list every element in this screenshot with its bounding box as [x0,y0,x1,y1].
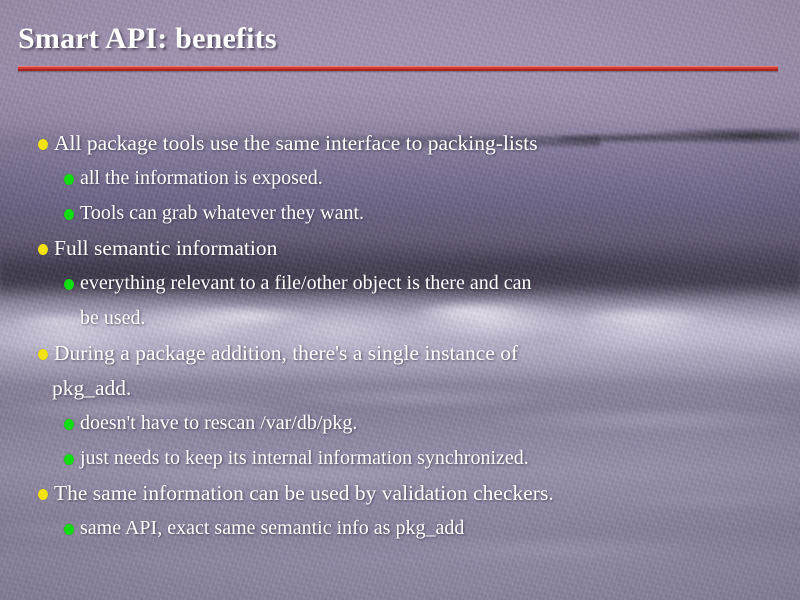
bullet-item-level2: same API, exact same semantic info as pk… [0,511,800,546]
bullet-dot-green-icon [64,209,74,220]
bullet-item-level1: Full semantic information [0,231,800,266]
bullet-dot-green-icon [64,279,74,290]
bullet-item-level2: everything relevant to a file/other obje… [0,266,800,301]
bullet-text: all the information is exposed. [80,167,323,189]
bullet-text: The same information can be used by vali… [54,481,554,505]
bullet-text: Tools can grab whatever they want. [80,202,364,224]
bullet-text: During a package addition, there's a sin… [54,341,518,365]
bullet-item-level1: All package tools use the same interface… [0,126,800,161]
bullet-item-level2: just needs to keep its internal informat… [0,441,800,476]
bullet-text: Full semantic information [54,236,277,260]
presentation-slide: Smart API: benefits All package tools us… [0,0,800,600]
bullet-dot-green-icon [64,419,74,430]
bullet-dot-green-icon [64,454,74,465]
bullet-item-level2: all the information is exposed. [0,161,800,196]
bullet-dot-yellow-icon [38,489,48,500]
bullet-text: doesn't have to rescan /var/db/pkg. [80,412,357,434]
slide-title: Smart API: benefits [18,22,277,56]
bullet-item-level1-continuation: pkg_add. [0,371,800,406]
bullet-dot-yellow-icon [38,349,48,360]
title-divider-rule [18,66,778,71]
bullet-item-level2: Tools can grab whatever they want. [0,196,800,231]
bullet-dot-green-icon [64,174,74,185]
bullet-item-level2: doesn't have to rescan /var/db/pkg. [0,406,800,441]
bullet-text: be used. [80,307,146,329]
bullet-text: just needs to keep its internal informat… [80,447,529,469]
bullet-item-level1: The same information can be used by vali… [0,476,800,511]
bullet-dot-yellow-icon [38,244,48,255]
bullet-item-level1: During a package addition, there's a sin… [0,336,800,371]
bullet-text: same API, exact same semantic info as pk… [80,517,464,539]
bullet-dot-green-icon [64,524,74,535]
bullet-dot-yellow-icon [38,139,48,150]
bullet-text: All package tools use the same interface… [54,131,538,155]
bullet-text: everything relevant to a file/other obje… [80,272,531,294]
slide-bullet-list: All package tools use the same interface… [0,126,800,546]
bullet-text: pkg_add. [52,376,131,400]
bullet-item-level2-continuation: be used. [0,301,800,336]
